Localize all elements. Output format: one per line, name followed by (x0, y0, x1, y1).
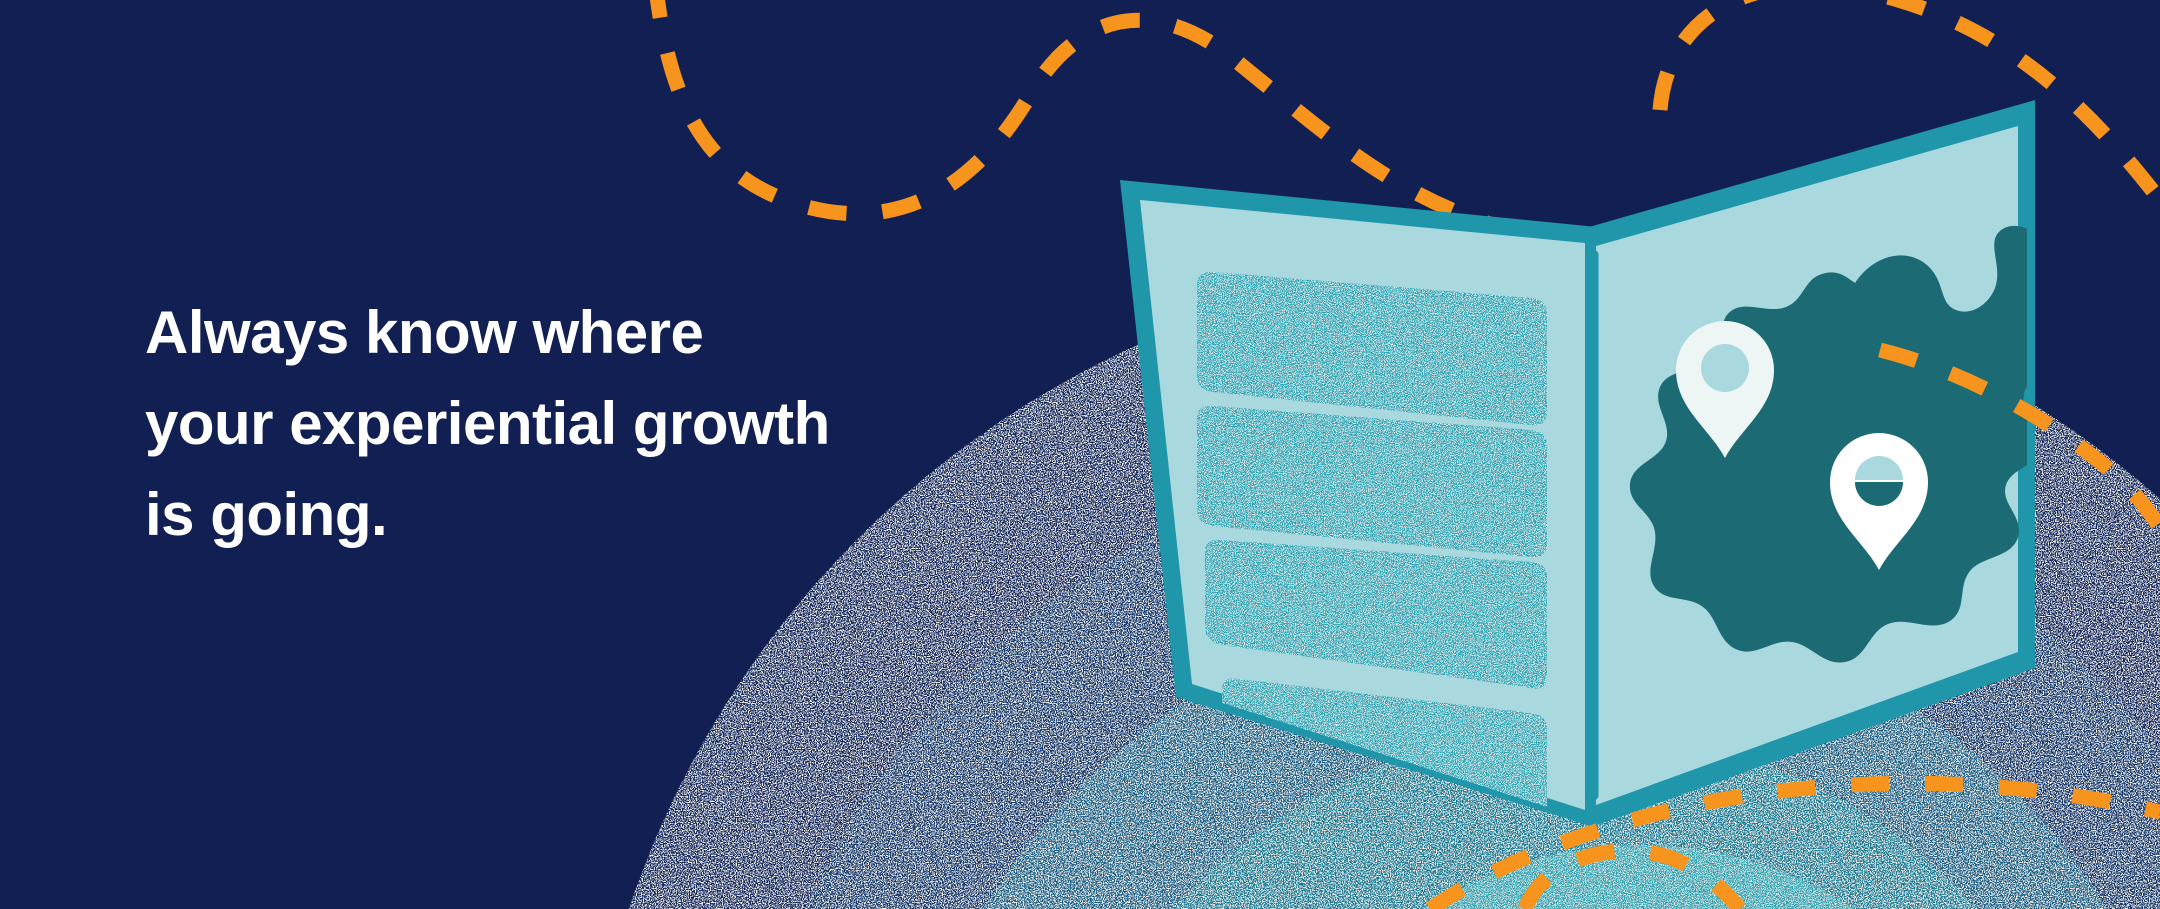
headline-line-2: your experiential growth (145, 378, 975, 469)
hero-banner: Always know where your experiential grow… (0, 0, 2160, 909)
headline-line-1: Always know where (145, 287, 975, 378)
page-headline: Always know where your experiential grow… (145, 287, 975, 560)
headline-line-3: is going. (145, 469, 975, 560)
